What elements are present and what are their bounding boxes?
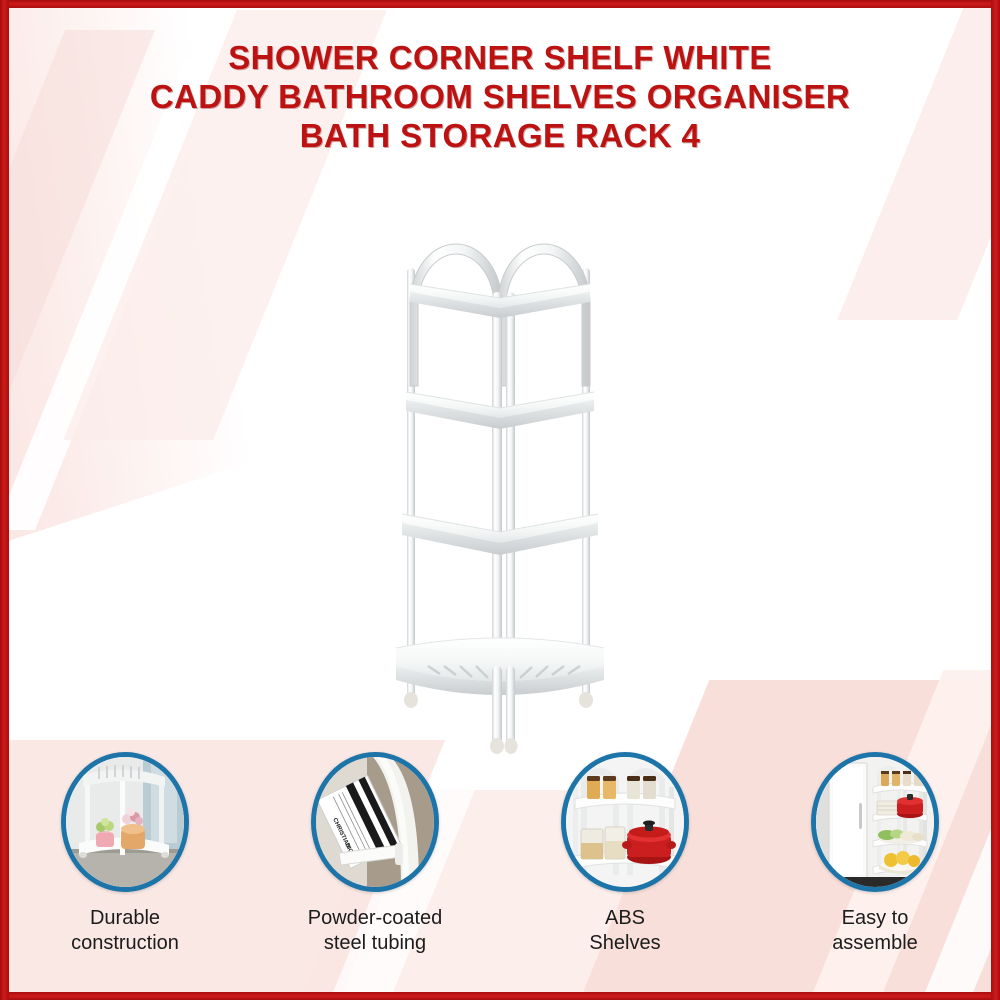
feature-thumbnail-2: CHRISTIAN DIOR [311, 752, 439, 892]
feature-caption-3: ABS Shelves [589, 906, 660, 956]
feature-caption-2-line2: steel tubing [308, 931, 443, 956]
rack-beside-fridge-icon [816, 757, 934, 887]
feature-highlights: Durable construction [0, 752, 1000, 962]
frame-border-right [991, 0, 1000, 1000]
product-title-line-2: CADDY BATHROOM SHELVES ORGANISER [0, 77, 1000, 116]
steel-tubing-closeup-icon: CHRISTIAN DIOR [316, 757, 434, 887]
product-title-line-3: BATH STORAGE RACK 4 [0, 116, 1000, 155]
feature-caption-4-line1: Easy to [832, 906, 918, 931]
feature-caption-2: Powder-coated steel tubing [308, 906, 443, 956]
product-listing-image: SHOWER CORNER SHELF WHITE CADDY BATHROOM… [0, 0, 1000, 1000]
product-title: SHOWER CORNER SHELF WHITE CADDY BATHROOM… [0, 38, 1000, 155]
feature-caption-1: Durable construction [71, 906, 179, 956]
feature-caption-4-line2: assemble [832, 931, 918, 956]
food-containers [581, 827, 625, 859]
feature-item: Easy to assemble [750, 752, 1000, 962]
frame-border-left [0, 0, 9, 1000]
corner-shelf-rack-illustration [370, 196, 630, 756]
product-title-line-1: SHOWER CORNER SHELF WHITE [0, 38, 1000, 77]
feature-thumbnail-4 [811, 752, 939, 892]
feature-item: CHRISTIAN DIOR Powder-coated s [250, 752, 500, 962]
feature-thumbnail-1 [61, 752, 189, 892]
feature-caption-1-line1: Durable [71, 906, 179, 931]
feature-item: Durable construction [0, 752, 250, 962]
foot-cap [579, 692, 593, 708]
shelf-with-plants-icon [66, 757, 184, 887]
frame-border-top [0, 0, 1000, 8]
feature-item: ABS Shelves [500, 752, 750, 962]
feature-caption-4: Easy to assemble [832, 906, 918, 956]
feature-caption-1-line2: construction [71, 931, 179, 956]
feature-caption-3-line2: Shelves [589, 931, 660, 956]
foot-cap [404, 692, 418, 708]
frame-border-bottom [0, 992, 1000, 1000]
hero-product-image [370, 196, 630, 756]
feature-caption-2-line1: Powder-coated [308, 906, 443, 931]
feature-thumbnail-3 [561, 752, 689, 892]
kitchen-shelf-jars-pot-icon [566, 757, 684, 887]
feature-caption-3-line1: ABS [589, 906, 660, 931]
